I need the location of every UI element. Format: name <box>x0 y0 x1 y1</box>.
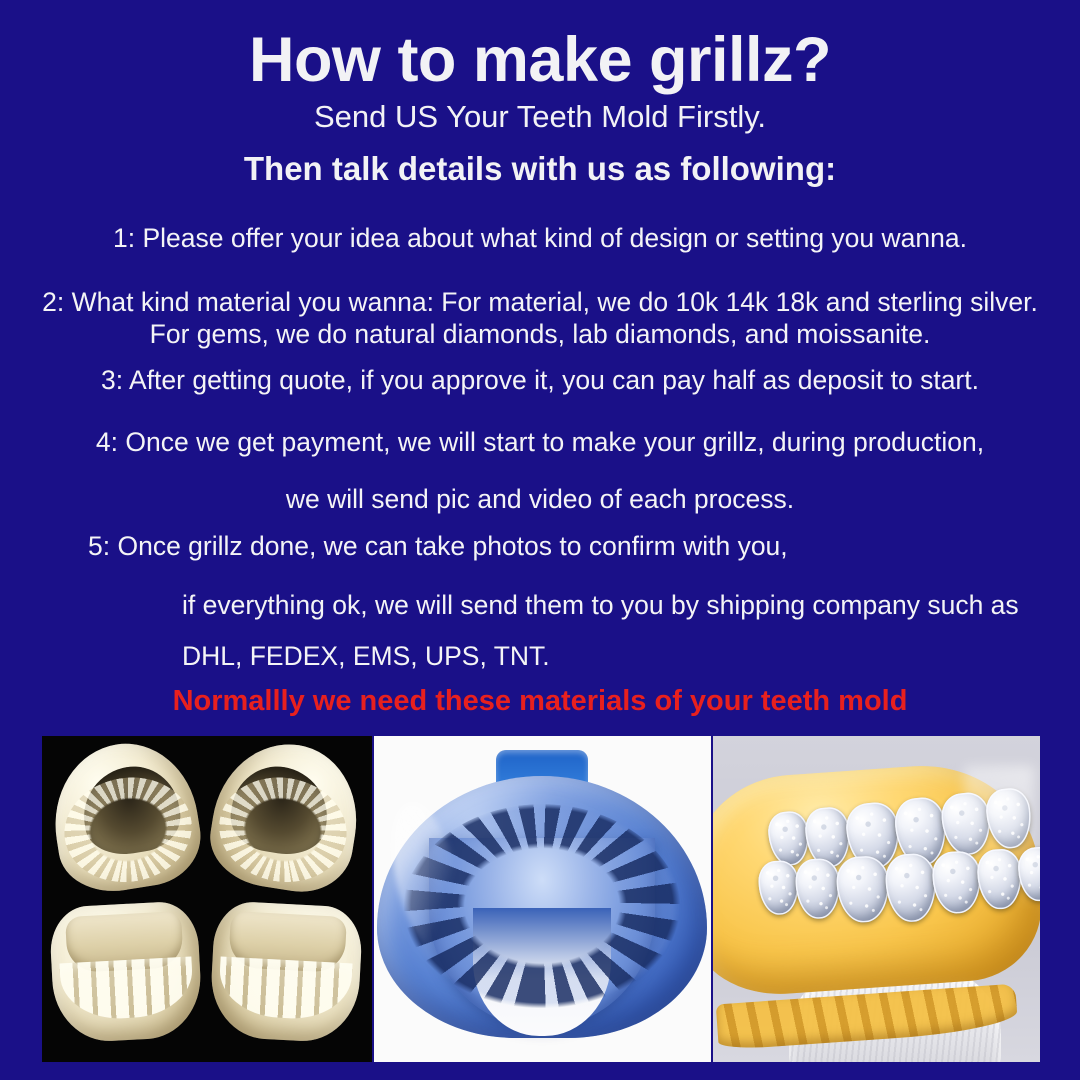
step-5-line-1: 5: Once grillz done, we can take photos … <box>88 532 788 561</box>
cast-upper-left-icon <box>44 736 208 899</box>
diamond-gem-icon <box>835 855 890 924</box>
materials-note: Normallly we need these materials of you… <box>0 685 1080 718</box>
cast-lower-left-icon <box>49 900 204 1044</box>
photo-highlight-icon <box>964 766 1034 936</box>
step-2-line-1: 2: What kind material you wanna: For mat… <box>0 288 1080 317</box>
step-4-line-1: 4: Once we get payment, we will start to… <box>0 428 1080 457</box>
cast-upper-right-icon <box>204 736 368 899</box>
page-subtitle: Send US Your Teeth Mold Firstly. <box>0 100 1080 134</box>
step-5-line-2: if everything ok, we will send them to y… <box>182 591 1019 620</box>
page-title: How to make grillz? <box>0 27 1080 93</box>
step-1-line-1: 1: Please offer your idea about what kin… <box>0 224 1080 253</box>
step-2-line-2: For gems, we do natural diamonds, lab di… <box>0 320 1080 349</box>
photo-strip <box>42 736 1040 1062</box>
photo-plaster-dental-casts <box>42 736 372 1062</box>
photo-blue-silicone-impression <box>374 736 710 1062</box>
photo-diamond-grillz-on-model <box>713 736 1040 1062</box>
poster-root: How to make grillz? Send US Your Teeth M… <box>0 0 1080 1080</box>
cast-lower-right-icon <box>209 900 364 1044</box>
page-lead: Then talk details with us as following: <box>0 151 1080 187</box>
step-5-line-3: DHL, FEDEX, EMS, UPS, TNT. <box>182 642 550 671</box>
diamond-gem-icon <box>794 858 841 920</box>
step-4-line-2: we will send pic and video of each proce… <box>0 485 1080 514</box>
diamond-gem-icon <box>884 853 937 924</box>
diamond-gem-icon <box>757 860 800 916</box>
step-3-line-1: 3: After getting quote, if you approve i… <box>0 366 1080 395</box>
